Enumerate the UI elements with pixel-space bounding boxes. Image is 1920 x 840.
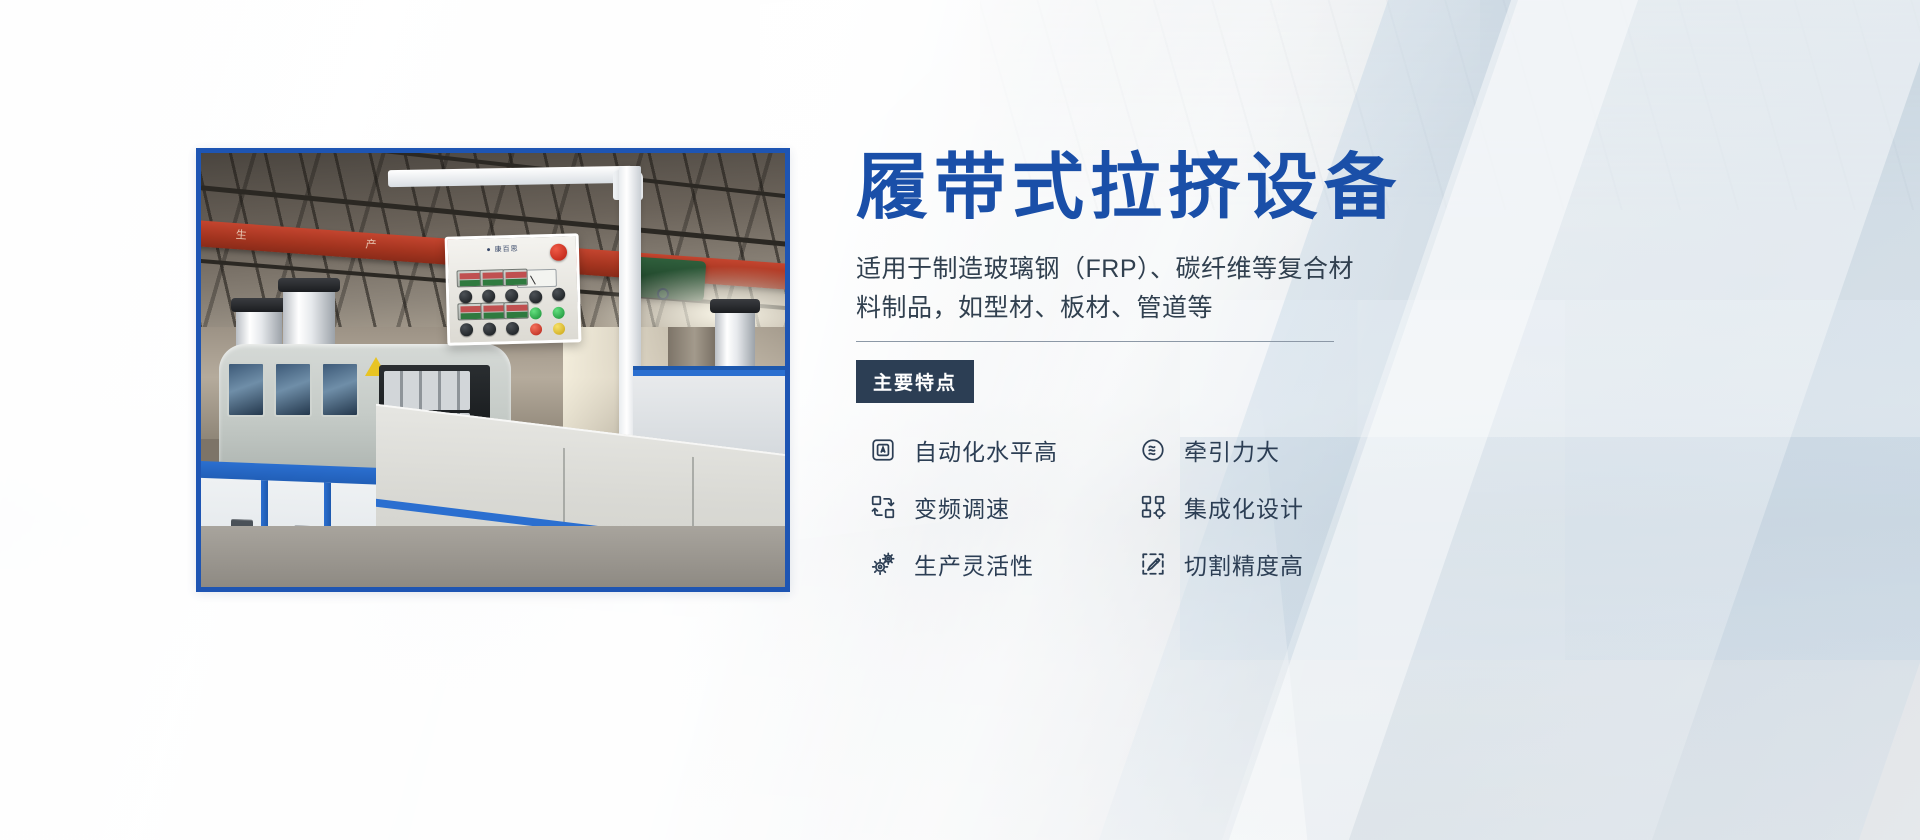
indicator-lamp-red: [530, 324, 542, 336]
temp-controller-3: [503, 269, 528, 287]
feature-label: 变频调速: [914, 490, 1010, 524]
indicator-lamp-green-2: [552, 307, 564, 319]
machine-window-3: [321, 362, 359, 417]
feature-label: 切割精度高: [1184, 547, 1304, 581]
feature-label: 生产灵活性: [914, 547, 1034, 581]
feature-label: 自动化水平高: [914, 433, 1058, 467]
emergency-stop-button: [550, 244, 567, 261]
control-knob-4: [460, 324, 473, 337]
factory-floor: [201, 526, 785, 587]
temp-controller-4: [457, 303, 482, 321]
traction-icon: [1138, 435, 1168, 465]
product-banner: 生 产 严 禁: [0, 0, 1920, 840]
feature-item-integration[interactable]: 集成化设计: [1138, 490, 1408, 524]
indicator-lamp-yellow: [553, 323, 565, 335]
product-photo-card[interactable]: 生 产 严 禁: [196, 148, 790, 592]
page-title: 履带式拉挤设备: [856, 150, 1836, 228]
section-divider: [856, 341, 1334, 342]
product-description: 适用于制造玻璃钢（FRP）、碳纤维等复合材料制品，如型材、板材、管道等: [856, 250, 1356, 328]
temp-controller-5: [480, 302, 505, 320]
machine-control-panel: ● 康百思: [445, 234, 582, 346]
frequency-icon: [868, 492, 898, 522]
status-badge: 主要特点: [856, 360, 974, 403]
feature-item-traction[interactable]: 牵引力大: [1138, 433, 1408, 467]
feature-item-automation[interactable]: 自动化水平高: [868, 433, 1138, 467]
control-knob-5: [483, 323, 496, 336]
machine-window-2: [274, 362, 312, 417]
caterpillar-track-upper: [384, 371, 471, 410]
control-knob-7: [529, 291, 542, 304]
indicator-lamp-green-1: [529, 307, 541, 319]
integration-icon: [1138, 492, 1168, 522]
feature-item-flexibility[interactable]: 生产灵活性: [868, 547, 1138, 581]
panel-brand-logo: ● 康百思: [487, 244, 519, 255]
temp-controller-2: [480, 269, 505, 287]
temp-controller-1: [456, 270, 481, 288]
control-knob-6: [507, 322, 520, 335]
temp-controller-6: [503, 302, 528, 320]
feature-list: 自动化水平高 牵引力大: [868, 433, 1836, 581]
feature-item-frequency[interactable]: 变频调速: [868, 490, 1138, 524]
resin-tank-3: [715, 308, 755, 370]
gears-icon: [868, 549, 898, 579]
banner-content: 履带式拉挤设备 适用于制造玻璃钢（FRP）、碳纤维等复合材料制品，如型材、板材、…: [856, 150, 1836, 581]
feature-label: 集成化设计: [1184, 490, 1304, 524]
machine-window-1: [227, 362, 265, 417]
feature-label: 牵引力大: [1184, 433, 1280, 467]
product-photo: 生 产 严 禁: [201, 153, 785, 587]
precision-cut-icon: [1138, 549, 1168, 579]
automation-icon: [868, 435, 898, 465]
feature-item-precision[interactable]: 切割精度高: [1138, 547, 1408, 581]
control-knob-8: [552, 288, 565, 301]
